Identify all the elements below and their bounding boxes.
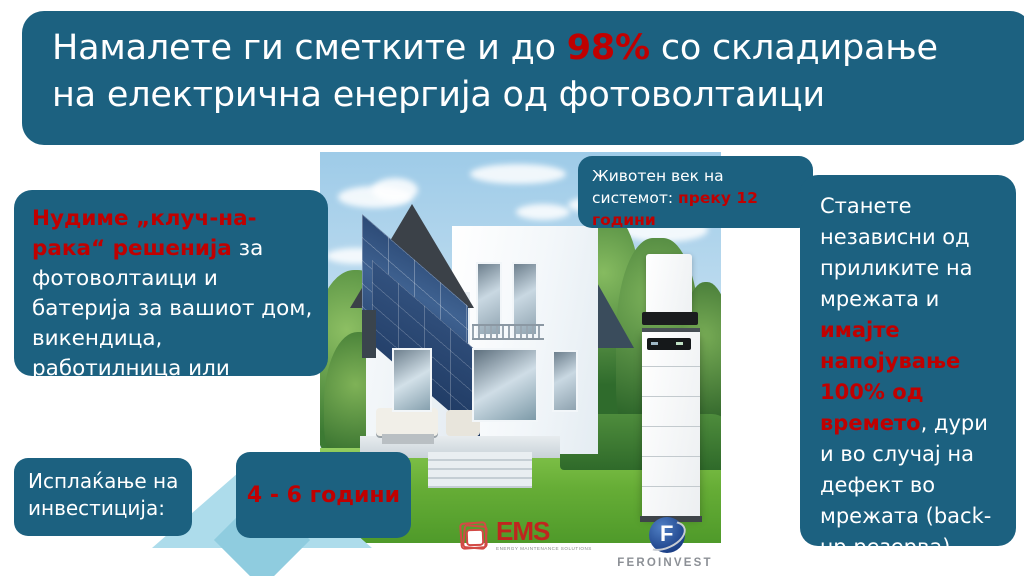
entry-steps — [428, 452, 532, 488]
header-line-1: Намалете ги сметките и до 98% со складир… — [52, 25, 1006, 72]
battery-seam — [642, 366, 700, 367]
window — [392, 348, 432, 412]
callout-payback-label: Исплаќање на инвестиција: — [14, 458, 192, 536]
callout-turnkey-solutions: Нудиме „клуч-на-рака“ решенија за фотово… — [14, 190, 328, 376]
feroinvest-logo-name: FEROINVEST — [610, 557, 720, 569]
battery-seam — [642, 396, 700, 397]
payback-label-text: Исплаќање на инвестиција: — [28, 468, 184, 522]
callout-energy-independence: Станете независни од приликите на мрежат… — [800, 175, 1016, 546]
callout-independence-prefix: Станете независни од приликите на мрежат… — [820, 194, 973, 311]
header-percent-highlight: 98% — [567, 28, 650, 68]
header-line-1-prefix: Намалете ги сметките и до — [52, 28, 567, 68]
battery-seam — [642, 456, 700, 457]
cloud-icon — [372, 178, 418, 202]
header-line-2: на електрична енергија од фотоволтаици — [52, 72, 1006, 119]
battery-module-stack — [642, 332, 700, 517]
patio-sofa — [376, 408, 438, 436]
ems-logo-tagline: ENERGY MAINTENANCE SOLUTIONS — [496, 546, 592, 551]
ems-logo-name: EMS — [496, 518, 592, 545]
window — [552, 350, 578, 412]
feroinvest-mark-icon: F — [643, 514, 687, 558]
inverter-display — [642, 312, 698, 325]
callout-payback-value: 4 - 6 години — [236, 452, 411, 538]
inverter-unit — [646, 254, 692, 314]
battery-led-icon — [651, 342, 658, 345]
slide-root: Намалете ги сметките и до 98% со складир… — [0, 0, 1024, 576]
callout-turnkey-rest: за фотоволтаици и батерија за вашиот дом… — [32, 236, 312, 411]
balcony-railing — [472, 324, 544, 340]
battery-storage-system — [618, 254, 718, 524]
callout-independence-text: Станете независни од приликите на мрежат… — [820, 191, 1006, 563]
feroinvest-logo: F FEROINVEST — [610, 514, 720, 569]
ems-square-mark-icon — [458, 520, 492, 554]
header-line-1-suffix: со складирање — [650, 28, 938, 68]
cloud-icon — [516, 204, 570, 220]
feroinvest-monogram: F — [660, 523, 673, 545]
logo-bar: EMS ENERGY MAINTENANCE SOLUTIONS F FEROI… — [450, 512, 730, 574]
battery-seam — [642, 486, 700, 487]
payback-value-text: 4 - 6 години — [247, 483, 400, 508]
callout-turnkey-highlight: Нудиме „клуч-на-рака“ решенија — [32, 206, 257, 261]
patio-table — [382, 434, 434, 444]
callout-turnkey-text: Нудиме „клуч-на-рака“ решенија за фотово… — [32, 204, 314, 414]
cloud-icon — [470, 164, 566, 184]
battery-seam — [642, 426, 700, 427]
callout-lifetime-text: Животен век на системот: преку 12 години — [592, 165, 801, 231]
window — [362, 310, 376, 358]
battery-led-icon — [676, 342, 683, 345]
slide-header-banner: Намалете ги сметките и до 98% со складир… — [22, 11, 1024, 145]
ems-logo: EMS ENERGY MAINTENANCE SOLUTIONS — [458, 518, 592, 554]
window — [472, 348, 538, 422]
callout-system-lifetime: Животен век на системот: преку 12 години — [578, 156, 813, 228]
